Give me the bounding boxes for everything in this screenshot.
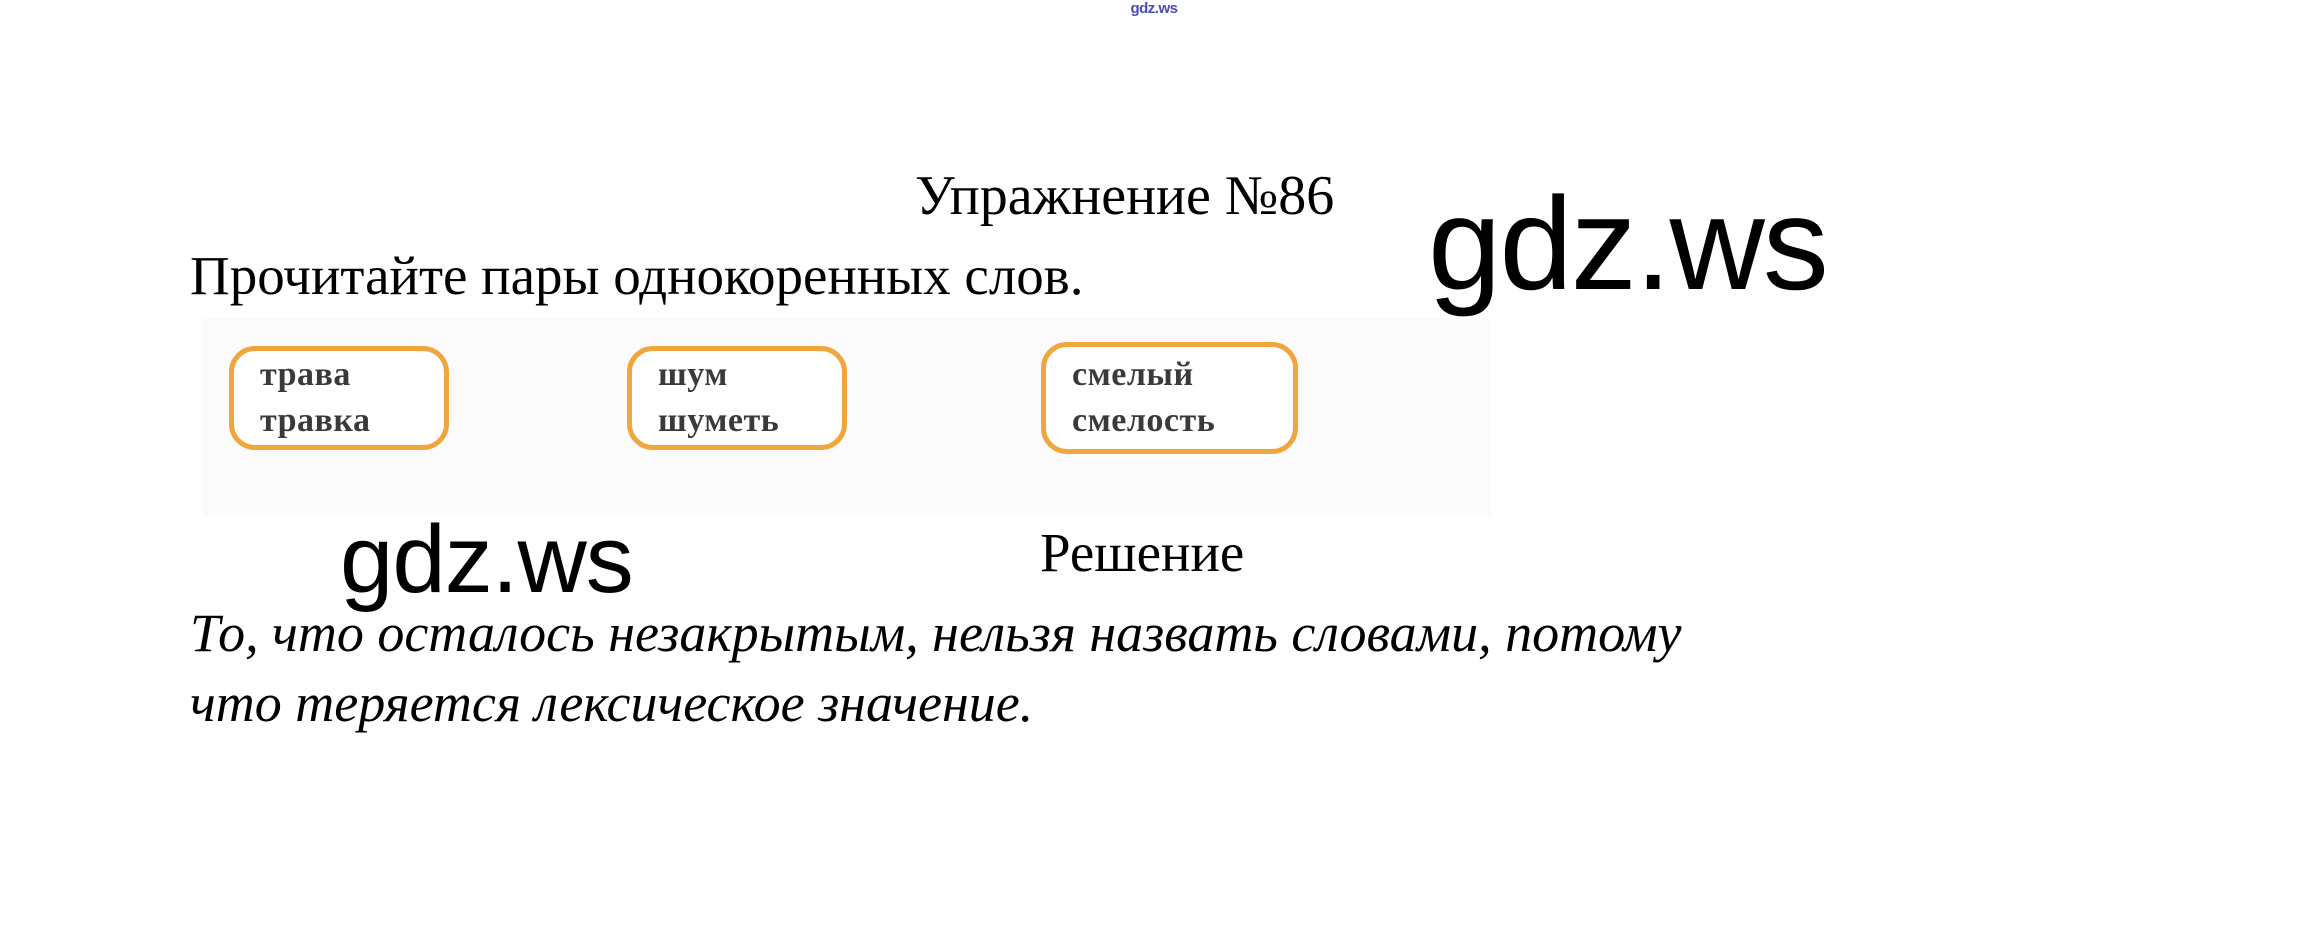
solution-line: что теряется лексическое значение. — [190, 668, 2130, 738]
word-line: шуметь — [658, 398, 842, 444]
exercise-figure: трава травка шум шуметь смелый смелость — [203, 318, 1491, 516]
word-line: трава — [260, 352, 444, 398]
watermark-top-right: gdz.ws — [1428, 178, 1827, 310]
word-box-smelyy: смелый смелость — [1041, 342, 1298, 454]
solution-heading: Решение — [1040, 522, 1244, 584]
word-box-trava: трава травка — [229, 346, 449, 450]
top-watermark: gdz.ws — [0, 0, 2308, 18]
solution-body: То, что осталось незакрытым, нельзя назв… — [190, 598, 2130, 738]
word-box-shum: шум шуметь — [627, 346, 847, 450]
word-line: смелый — [1072, 352, 1293, 398]
word-line: смелость — [1072, 398, 1293, 444]
page-title: Упражнение №86 — [915, 165, 1334, 227]
watermark-bottom-left: gdz.ws — [340, 512, 633, 608]
word-box-group: трава травка шум шуметь смелый смелость — [203, 318, 1491, 516]
exercise-instruction: Прочитайте пары однокоренных слов. — [190, 245, 1084, 307]
word-line: шум — [658, 352, 842, 398]
solution-line: То, что осталось незакрытым, нельзя назв… — [190, 598, 2130, 668]
word-line: травка — [260, 398, 444, 444]
